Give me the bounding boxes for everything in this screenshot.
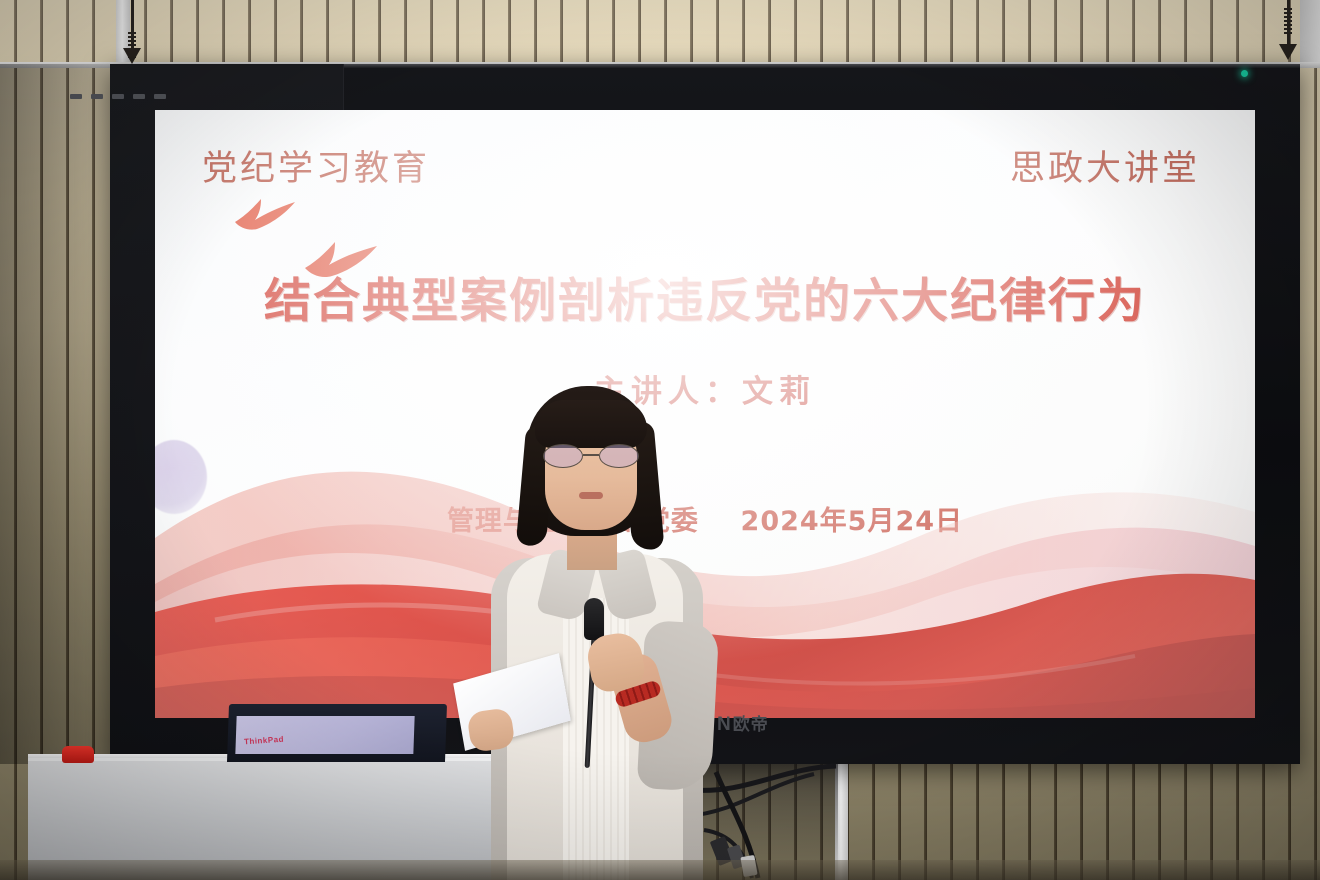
eyeglasses-icon <box>543 444 639 468</box>
floor-strip <box>0 860 1320 880</box>
port-indicator <box>91 94 103 99</box>
slide-kicker-left: 党纪学习教育 <box>202 140 430 191</box>
display-brand-cn: 欧帝 <box>733 715 769 734</box>
mouth <box>579 492 603 499</box>
left-shadow <box>0 64 112 764</box>
port-indicator <box>154 94 166 99</box>
display-port-indicators <box>70 94 166 99</box>
glasses-bridge <box>583 454 599 456</box>
ceiling-mic-coil <box>1284 8 1292 34</box>
lens-right <box>599 444 639 468</box>
fringe <box>535 400 647 448</box>
microphone-icon <box>584 598 604 640</box>
port-indicator <box>133 94 145 99</box>
ceiling-mic-cone <box>123 48 141 64</box>
presenter <box>455 386 735 880</box>
ceiling-mic-cone <box>1279 44 1297 60</box>
lens-left <box>543 444 583 468</box>
port-indicator <box>70 94 82 99</box>
dove-icon <box>233 196 297 236</box>
laptop-screen[interactable] <box>235 716 414 754</box>
slide-title: 结合典型案例剖析违反党的六大纪律行为 <box>155 262 1255 331</box>
power-led-icon <box>1241 70 1248 77</box>
lecture-hall-photo: 党纪学习教育 思政大讲堂 结合典型案例剖析违反党的六大纪律行为 主讲人：文莉 管… <box>0 0 1320 880</box>
red-knob[interactable] <box>62 746 94 763</box>
port-indicator <box>112 94 124 99</box>
slide-kicker-right: 思政大讲堂 <box>1010 140 1200 191</box>
wall-pilaster <box>1300 0 1320 62</box>
